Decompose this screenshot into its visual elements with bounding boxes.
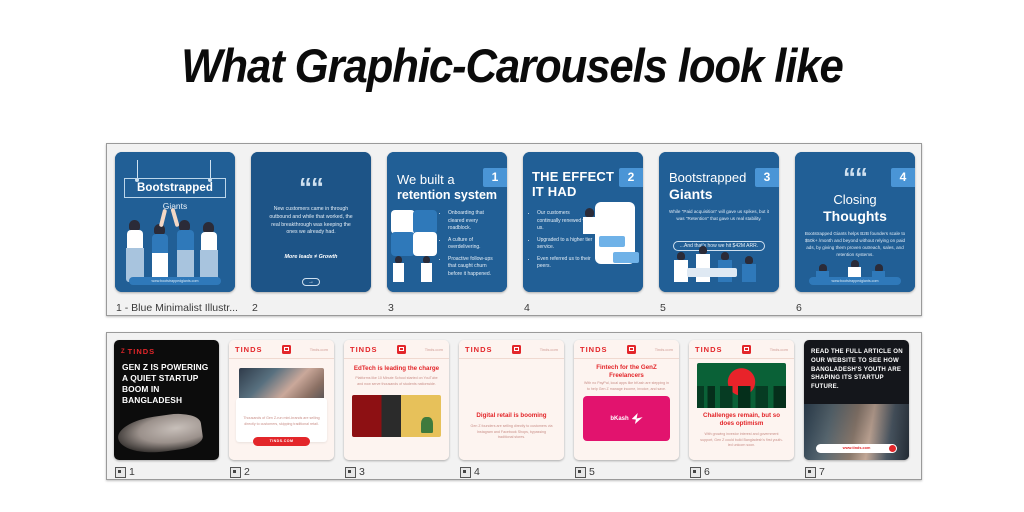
figure-3-shirt: [177, 230, 194, 251]
slide-title: GEN Z IS POWERING A QUIET STARTUP BOOM I…: [122, 362, 213, 406]
blue-slide-6[interactable]: 4 ““ Closing Thoughts Bootstrapped Giant…: [787, 144, 923, 317]
next-arrow-icon[interactable]: →: [302, 278, 320, 286]
blue-slide-3-thumb[interactable]: 1 We built a retention system Onboarding…: [387, 152, 507, 292]
slide-title-line1: THE EFFECT: [532, 170, 614, 184]
slide-title-line1: We built a: [397, 172, 455, 187]
cta-label: www.tinds.com: [843, 446, 871, 450]
tinds-slide-3-thumb[interactable]: TINDS Tinds.com EdTech is leading the ch…: [344, 340, 449, 460]
blue-slide-1-caption: 1 - Blue Minimalist Illustr...: [116, 302, 238, 314]
slide-footer-url: www.bootstrappedgiants.com: [129, 277, 221, 285]
search-icon[interactable]: [889, 445, 896, 452]
transition-icon: [690, 467, 701, 478]
brand-logo: TINDS: [235, 345, 263, 354]
blue-slide-1-thumb[interactable]: Bootstrapped Giants: [115, 152, 235, 292]
blue-slide-4-thumb[interactable]: 2 THE EFFECT IT HAD Our customers contin…: [523, 152, 643, 292]
slide-body: With no PayPal, local apps like bKash ar…: [584, 381, 669, 392]
blue-slide-1[interactable]: Bootstrapped Giants: [107, 144, 243, 317]
tinds-slide-2[interactable]: TINDS Tinds.com Thousands of Gen Z-run m…: [222, 333, 337, 481]
slide-body: Thousands of Gen Z-run mini-brands are s…: [239, 416, 324, 427]
bkash-bird-icon: [632, 413, 643, 424]
tinds-z-icon: Z: [121, 349, 125, 355]
figure-2-shirt: [152, 234, 168, 254]
site-url: Tinds.com: [540, 347, 558, 352]
quote-mark-icon: ““: [795, 164, 915, 190]
blue-slide-5-thumb[interactable]: 3 Bootstrapped Giants While "Paid acquis…: [659, 152, 779, 292]
slide-header: TINDS Tinds.com: [344, 340, 449, 359]
slide-body: While "Paid acquisition" will gave us sp…: [668, 208, 770, 222]
tinds-slide-6-thumb[interactable]: TINDS Tinds.com Challenges remain, but s…: [689, 340, 794, 460]
slide-title: Bootstrapped: [124, 178, 226, 198]
caption-number: 7: [819, 466, 825, 478]
decor-tick-right: [210, 160, 211, 179]
bullet-item: Onboarding that cleared every roadblock.: [448, 210, 501, 233]
transition-icon: [805, 467, 816, 478]
tinds-slide-6-caption: 6: [690, 466, 710, 478]
caption-number: 5: [589, 466, 595, 478]
slide-header: TINDS Tinds.com: [229, 340, 334, 359]
slide-kicker: More leads ≠ Growth: [261, 254, 361, 260]
slide-title: EdTech is leading the charge: [352, 365, 441, 373]
tinds-slide-4[interactable]: TINDS Tinds.com Digital retail is boomin…: [452, 333, 567, 481]
blue-slide-6-thumb[interactable]: 4 ““ Closing Thoughts Bootstrapped Giant…: [795, 152, 915, 292]
caption-number: 6: [704, 466, 710, 478]
tinds-slide-4-caption: 4: [460, 466, 480, 478]
blue-slide-2-thumb[interactable]: ““ New customers came in through outboun…: [251, 152, 371, 292]
tablet-photo: [468, 362, 555, 406]
blue-slide-6-caption: 6: [796, 302, 802, 314]
tinds-slide-7-thumb[interactable]: READ THE FULL ARTICLE ON OUR WEBSITE TO …: [804, 340, 909, 460]
slide-title: Fintech for the GenZ Freelancers: [582, 364, 671, 381]
blue-slide-3[interactable]: 1 We built a retention system Onboarding…: [379, 144, 515, 317]
slide-footer-url: www.bootstrappedgiants.com: [809, 277, 901, 285]
slide-title: READ THE FULL ARTICLE ON OUR WEBSITE TO …: [811, 348, 903, 392]
slide-title: Digital retail is booming: [467, 412, 556, 420]
blue-slide-5[interactable]: 3 Bootstrapped Giants While "Paid acquis…: [651, 144, 787, 317]
transition-icon: [230, 467, 241, 478]
blue-slide-2-caption: 2: [252, 302, 258, 314]
slide-body: With growing investor interest and gover…: [699, 432, 784, 449]
site-url: Tinds.com: [770, 347, 788, 352]
slide-header: TINDS Tinds.com: [689, 340, 794, 359]
brand-mark-icon: [397, 345, 406, 354]
tinds-carousel-rail: Z TINDS GEN Z IS POWERING A QUIET STARTU…: [107, 333, 921, 481]
slide-badge: 1: [483, 168, 507, 187]
slide-title: Challenges remain, but so does optimism: [697, 412, 786, 429]
bullet-item: Proactive follow-ups that caught churn b…: [448, 256, 501, 279]
cta-button[interactable]: TINDS.COM: [253, 437, 310, 446]
slide-badge: 2: [619, 168, 643, 187]
slide-header: TINDS Tinds.com: [459, 340, 564, 359]
tinds-slide-4-thumb[interactable]: TINDS Tinds.com Digital retail is boomin…: [459, 340, 564, 460]
slide-title-line2: Thoughts: [795, 208, 915, 224]
bangladesh-flag-photo: [697, 363, 786, 408]
site-url: Tinds.com: [310, 347, 328, 352]
slide-title-line2: Giants: [669, 186, 713, 202]
bkash-label: bKash: [610, 416, 628, 422]
tinds-slide-5-thumb[interactable]: TINDS Tinds.com Fintech for the GenZ Fre…: [574, 340, 679, 460]
slide-body: Bootstrapped Giants helps B2B founders s…: [803, 230, 907, 258]
slide-body: New customers came in through outbound a…: [267, 206, 355, 237]
tinds-slide-5-caption: 5: [575, 466, 595, 478]
blue-carousel-rail: Bootstrapped Giants: [107, 144, 921, 317]
cta-button[interactable]: www.tinds.com: [816, 444, 897, 453]
tinds-slide-3[interactable]: TINDS Tinds.com EdTech is leading the ch…: [337, 333, 452, 481]
slide-title-line1: Closing: [795, 192, 915, 207]
site-url: Tinds.com: [655, 347, 673, 352]
brand-mark-icon: [282, 345, 291, 354]
figure-4-shirt: [201, 232, 217, 251]
slide-pill: ...And that's how we hit $42M ARR.: [673, 241, 765, 251]
classroom-photo: [352, 395, 441, 437]
tinds-slide-7[interactable]: READ THE FULL ARTICLE ON OUR WEBSITE TO …: [797, 333, 912, 481]
brand-mark-icon: [742, 345, 751, 354]
tinds-slide-5[interactable]: TINDS Tinds.com Fintech for the GenZ Fre…: [567, 333, 682, 481]
plant-decor: [421, 417, 433, 433]
transition-icon: [115, 467, 126, 478]
tinds-carousel-filmstrip[interactable]: Z TINDS GEN Z IS POWERING A QUIET STARTU…: [106, 332, 922, 480]
bullet-item: A culture of overdelivering.: [448, 237, 501, 252]
transition-icon: [460, 467, 471, 478]
blue-slide-4-caption: 4: [524, 302, 530, 314]
tinds-slide-1-thumb[interactable]: Z TINDS GEN Z IS POWERING A QUIET STARTU…: [114, 340, 219, 460]
tinds-slide-1-caption: 1: [115, 466, 135, 478]
slide-title-line2: retention system: [397, 188, 497, 202]
slide-body: Platforms like 10 Minute School started …: [354, 376, 439, 387]
slide-body: Gen Z founders are selling directly to c…: [469, 424, 554, 441]
blue-slide-5-caption: 5: [660, 302, 666, 314]
figure-1-shirt: [127, 230, 143, 249]
bullet-item: Upgraded to a higher tier service.: [537, 237, 593, 252]
bullet-item: Even referred us to their peers.: [537, 256, 593, 271]
brand-mark-icon: [512, 345, 521, 354]
tinds-slide-1[interactable]: Z TINDS GEN Z IS POWERING A QUIET STARTU…: [107, 333, 222, 481]
brand-logo: TINDS: [350, 345, 378, 354]
brand-logo: TINDS: [128, 347, 156, 356]
page-title: What Graphic-Carousels look like: [36, 38, 988, 93]
slide-header: TINDS Tinds.com: [574, 340, 679, 359]
tinds-slide-3-caption: 3: [345, 466, 365, 478]
slide-badge: 3: [755, 168, 779, 187]
tinds-slide-2-thumb[interactable]: TINDS Tinds.com Thousands of Gen Z-run m…: [229, 340, 334, 460]
caption-number: 3: [359, 466, 365, 478]
brand-mark-icon: [627, 345, 636, 354]
caption-number: 1: [129, 466, 135, 478]
blue-slide-3-caption: 3: [388, 302, 394, 314]
transition-icon: [575, 467, 586, 478]
transition-icon: [345, 467, 356, 478]
blue-slide-4[interactable]: 2 THE EFFECT IT HAD Our customers contin…: [515, 144, 651, 317]
bkash-card: bKash: [583, 396, 670, 441]
slide-title-line2: IT HAD: [532, 185, 577, 199]
brand-logo: TINDS: [695, 345, 723, 354]
blue-slide-2[interactable]: ““ New customers came in through outboun…: [243, 144, 379, 317]
tinds-slide-6[interactable]: TINDS Tinds.com Challenges remain, but s…: [682, 333, 797, 481]
crowd-silhouette: [697, 386, 786, 408]
slide-bullet-list: Onboarding that cleared every roadblock.…: [442, 210, 501, 282]
site-url: Tinds.com: [425, 347, 443, 352]
quote-mark-icon: ““: [251, 174, 371, 200]
caption-number: 2: [244, 466, 250, 478]
caption-number: 4: [474, 466, 480, 478]
blue-carousel-filmstrip[interactable]: Bootstrapped Giants: [106, 143, 922, 316]
brand-logo: TINDS: [580, 345, 608, 354]
brand-logo: TINDS: [465, 345, 493, 354]
screenshot-root: What Graphic-Carousels look like Bootstr…: [0, 0, 1024, 512]
slide-title-line1: Bootstrapped: [669, 170, 746, 185]
tinds-slide-7-caption: 7: [805, 466, 825, 478]
decor-tick-left: [137, 160, 138, 179]
tinds-slide-2-caption: 2: [230, 466, 250, 478]
